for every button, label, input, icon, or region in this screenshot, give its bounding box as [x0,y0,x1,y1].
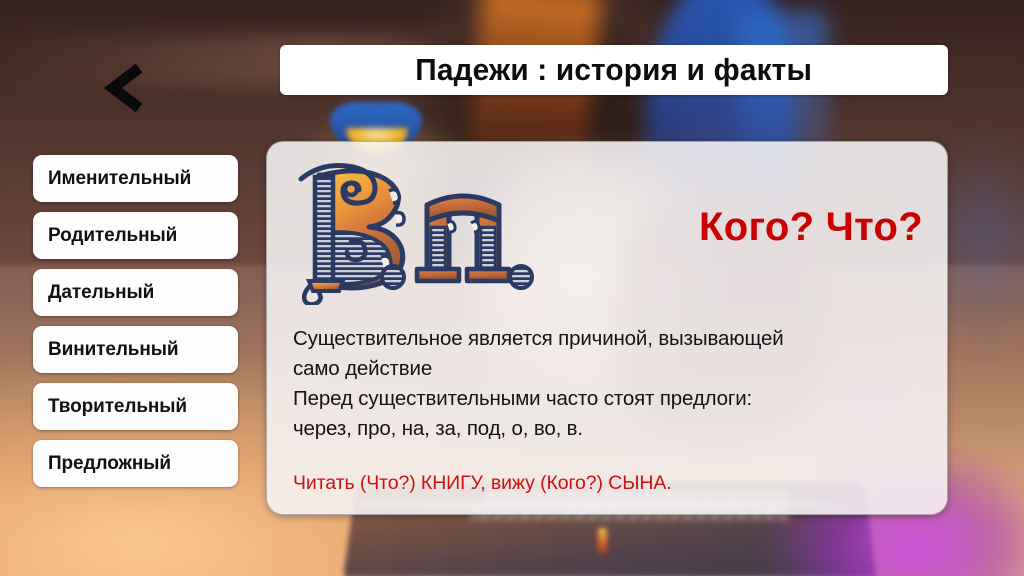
ornate-case-abbreviation-icon [289,155,539,305]
description-line: Существительное является причиной, вызыв… [293,324,927,354]
page-title: Падежи : история и факты [416,52,813,88]
case-question-heading: Кого? Что? [699,205,923,250]
sidebar-item-genitive[interactable]: Родительный [33,212,238,259]
case-description-text: Существительное является причиной, вызыв… [293,324,927,444]
case-navigation-sidebar: Именительный Родительный Дательный Винит… [33,155,238,487]
sidebar-item-label: Творительный [48,396,187,418]
sidebar-item-accusative[interactable]: Винительный [33,326,238,373]
sidebar-item-label: Предложный [48,453,171,475]
case-detail-panel: Кого? Что? Существительное является прич… [266,141,948,515]
chevron-left-icon[interactable] [96,57,152,119]
slide-title-bar: Падежи : история и факты [280,45,948,95]
sidebar-item-label: Именительный [48,168,191,190]
case-example-text: Читать (Что?) КНИГУ, вижу (Кого?) СЫНА. [293,472,672,495]
description-line: Перед существительными часто стоят предл… [293,384,927,414]
description-line: через, про, на, за, под, о, во, в. [293,414,927,444]
sidebar-item-label: Дательный [48,282,154,304]
sidebar-item-nominative[interactable]: Именительный [33,155,238,202]
sidebar-item-label: Родительный [48,225,177,247]
sidebar-item-prepositional[interactable]: Предложный [33,440,238,487]
sidebar-item-instrumental[interactable]: Творительный [33,383,238,430]
sidebar-item-dative[interactable]: Дательный [33,269,238,316]
sidebar-item-label: Винительный [48,339,178,361]
description-line: само действие [293,354,927,384]
